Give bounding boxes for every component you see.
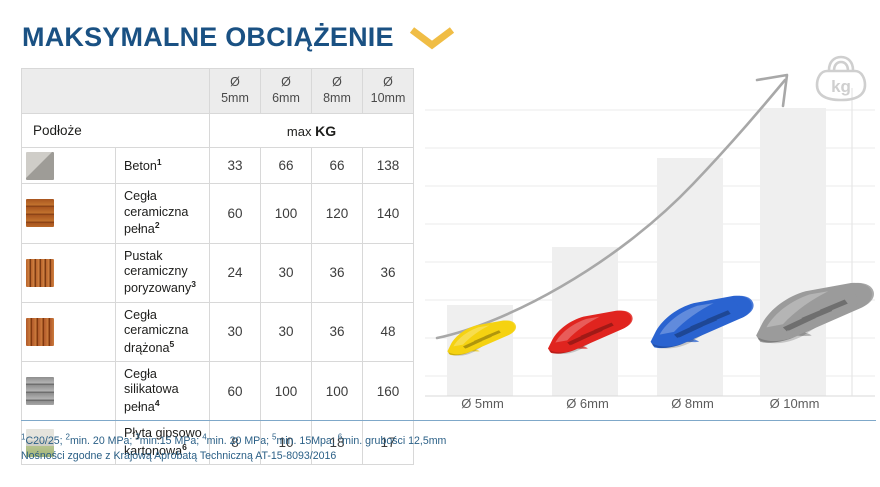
chart-x-axis-labels: Ø 5mm Ø 6mm Ø 8mm Ø 10mm — [425, 396, 875, 418]
subheader-substrate: Podłoże — [22, 114, 210, 148]
bar-chart: kg — [425, 52, 875, 412]
footnote-line-1: 1C20/25; 2min. 20 MPa; 3min.15 MPa; 4min… — [21, 435, 446, 447]
footnote-marker: 2 — [155, 220, 160, 230]
diameter-size: 5mm — [210, 91, 260, 107]
load-value-cell: 30 — [261, 243, 312, 302]
material-thumb-cell — [22, 302, 116, 361]
table-row: Pustak ceramiczny poryzowany324303636 — [22, 243, 414, 302]
x-tick-8mm: Ø 8mm — [645, 396, 740, 411]
load-value-cell: 160 — [363, 362, 414, 421]
load-value-cell: 100 — [312, 362, 363, 421]
load-value-cell: 120 — [312, 184, 363, 243]
table-row: Cegła ceramiczna drążona530303648 — [22, 302, 414, 361]
kg-weight-icon: kg — [817, 57, 865, 100]
chart-canvas: kg — [425, 52, 875, 412]
concrete-block-thumb — [26, 152, 54, 180]
header-diameter-8mm: Ø 8mm — [312, 69, 363, 114]
bar-10mm — [760, 108, 826, 396]
x-tick-6mm: Ø 6mm — [540, 396, 635, 411]
load-value-cell: 140 — [363, 184, 414, 243]
table-header-row: Ø 5mm Ø 6mm Ø 8mm Ø 10mm — [22, 69, 414, 114]
diameter-symbol: Ø — [210, 75, 260, 91]
load-capacity-table: Ø 5mm Ø 6mm Ø 8mm Ø 10mm Podłoże — [21, 68, 414, 465]
load-value-cell: 36 — [312, 302, 363, 361]
table-row: Cegła ceramiczna pełna260100120140 — [22, 184, 414, 243]
hollow-ceramic-brick-thumb — [26, 318, 54, 346]
load-value-cell: 48 — [363, 302, 414, 361]
footnote-marker: 3 — [191, 279, 196, 289]
footnote-index: 1 — [21, 432, 25, 441]
footnote-marker: 4 — [155, 398, 160, 408]
table-body: Beton1336666138Cegła ceramiczna pełna260… — [22, 148, 414, 465]
footnote-index: 5 — [272, 432, 276, 441]
footnote-line-2: Nośności zgodne z Krajową Aprobatą Techn… — [21, 449, 641, 465]
load-value-cell: 30 — [210, 302, 261, 361]
load-value-cell: 24 — [210, 243, 261, 302]
load-value-cell: 60 — [210, 362, 261, 421]
table-subheader-row: Podłoże max KG — [22, 114, 414, 148]
material-name-cell: Pustak ceramiczny poryzowany3 — [116, 243, 210, 302]
solid-ceramic-brick-thumb — [26, 199, 54, 227]
diameter-size: 10mm — [363, 91, 413, 107]
table-row: Beton1336666138 — [22, 148, 414, 184]
max-kg-unit: KG — [315, 123, 336, 139]
load-value-cell: 36 — [312, 243, 363, 302]
load-value-cell: 66 — [312, 148, 363, 184]
footnote-index: 6 — [338, 432, 342, 441]
max-kg-prefix: max — [287, 124, 315, 139]
chevron-down-icon — [408, 24, 456, 52]
infographic-root: MAKSYMALNE OBCIĄŻENIE Ø 5mm Ø 6mm Ø 8mm — [0, 0, 880, 487]
chart-bars — [447, 108, 826, 396]
footnote-index: 2 — [66, 432, 70, 441]
material-name-cell: Cegła ceramiczna drążona5 — [116, 302, 210, 361]
load-value-cell: 36 — [363, 243, 414, 302]
header-corner-cell — [22, 69, 210, 114]
subheader-max-kg: max KG — [210, 114, 414, 148]
load-value-cell: 66 — [261, 148, 312, 184]
diameter-symbol: Ø — [261, 75, 311, 91]
material-name-cell: Beton1 — [116, 148, 210, 184]
load-value-cell: 100 — [261, 184, 312, 243]
material-name-cell: Cegła ceramiczna pełna2 — [116, 184, 210, 243]
porous-ceramic-block-thumb — [26, 259, 54, 287]
bar-8mm — [657, 158, 723, 396]
material-thumb-cell — [22, 243, 116, 302]
footnotes: 1C20/25; 2min. 20 MPa; 3min.15 MPa; 4min… — [21, 431, 641, 465]
footnote-marker: 1 — [157, 157, 162, 167]
x-tick-5mm: Ø 5mm — [435, 396, 530, 411]
page-title: MAKSYMALNE OBCIĄŻENIE — [22, 22, 394, 53]
load-value-cell: 138 — [363, 148, 414, 184]
footnote-index: 4 — [202, 432, 206, 441]
material-thumb-cell — [22, 362, 116, 421]
table-row: Cegła silikatowa pełna460100100160 — [22, 362, 414, 421]
footnote-marker: 5 — [170, 339, 175, 349]
diameter-symbol: Ø — [363, 75, 413, 91]
diameter-size: 8mm — [312, 91, 362, 107]
diameter-size: 6mm — [261, 91, 311, 107]
load-value-cell: 30 — [261, 302, 312, 361]
silicate-brick-thumb — [26, 377, 54, 405]
load-value-cell: 100 — [261, 362, 312, 421]
diameter-symbol: Ø — [312, 75, 362, 91]
footer-divider — [21, 420, 876, 421]
header-diameter-6mm: Ø 6mm — [261, 69, 312, 114]
load-value-cell: 33 — [210, 148, 261, 184]
load-value-cell: 60 — [210, 184, 261, 243]
footnote-index: 3 — [135, 432, 139, 441]
header-diameter-5mm: Ø 5mm — [210, 69, 261, 114]
material-thumb-cell — [22, 184, 116, 243]
material-thumb-cell — [22, 148, 116, 184]
header-diameter-10mm: Ø 10mm — [363, 69, 414, 114]
material-name-cell: Cegła silikatowa pełna4 — [116, 362, 210, 421]
x-tick-10mm: Ø 10mm — [747, 396, 842, 411]
kg-icon-label: kg — [831, 77, 851, 96]
page-header: MAKSYMALNE OBCIĄŻENIE — [22, 22, 456, 53]
